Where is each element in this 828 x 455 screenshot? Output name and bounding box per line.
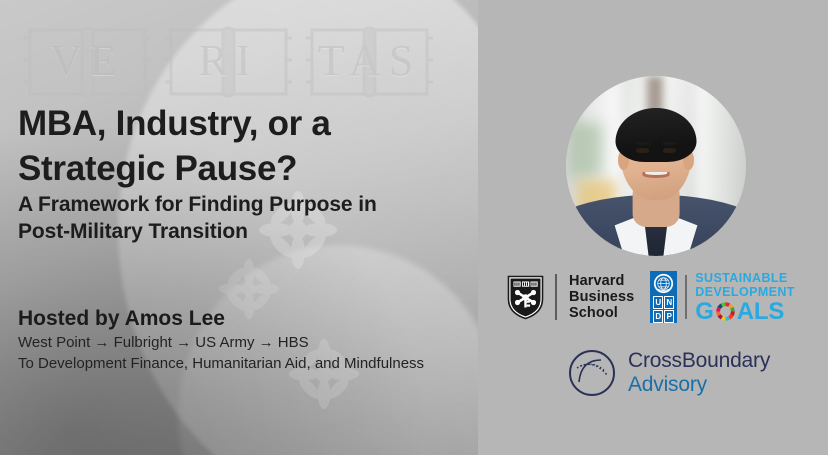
headshot-bg-foliage xyxy=(570,123,602,177)
veritas-book-letters: TAS xyxy=(302,16,437,104)
veritas-crest-watermark: VE RI xyxy=(20,16,450,104)
sdg-color-wheel-icon xyxy=(715,301,736,322)
logo-row-primary: Harvard Business School xyxy=(507,269,795,325)
subhead-line-2: Post-Military Transition xyxy=(18,218,458,245)
host-name: Hosted by Amos Lee xyxy=(18,306,468,332)
headline-line-1: MBA, Industry, or a xyxy=(18,101,448,146)
page-title: MBA, Industry, or a Strategic Pause? xyxy=(18,101,448,191)
sdg-goals-line: G xyxy=(695,299,795,324)
un-emblem-icon xyxy=(653,273,674,294)
host-career-path: West Point → Fulbright → US Army → HBS xyxy=(18,332,468,353)
undp-letter-u: U xyxy=(653,296,663,309)
logo-divider xyxy=(555,274,557,320)
veritas-book-icon: RI xyxy=(161,16,296,104)
harvard-business-school-logo: Harvard Business School xyxy=(507,269,634,325)
undp-letter-p: P xyxy=(664,310,674,323)
headshot-brow-left xyxy=(635,142,649,145)
crossboundary-name: CrossBoundary xyxy=(628,349,770,373)
headshot-eye-right xyxy=(663,148,676,153)
veritas-book-icon: TAS xyxy=(302,16,437,104)
crossboundary-globe-icon xyxy=(567,348,617,398)
undp-letter-d: D xyxy=(653,310,663,323)
hbs-wordmark-line-3: School xyxy=(569,305,634,321)
harvard-shield-icon xyxy=(507,275,544,320)
veritas-book-letters: RI xyxy=(161,16,296,104)
veritas-book-icon: VE xyxy=(20,16,155,104)
crossboundary-advisory-logo: CrossBoundary Advisory xyxy=(567,348,770,398)
headshot-eye-left xyxy=(636,148,649,153)
undp-logo: U N D P xyxy=(650,271,677,323)
hbs-wordmark-line-2: Business xyxy=(569,289,634,305)
event-promo-banner: VE RI xyxy=(0,0,828,455)
headshot-brow-right xyxy=(662,142,676,145)
undp-sdg-logo-group: U N D P SUSTAINABLE DEVELOPMENT G xyxy=(650,271,795,324)
crossboundary-subname: Advisory xyxy=(628,373,770,397)
left-panel: VE RI xyxy=(0,0,478,455)
hbs-wordmark-line-1: Harvard xyxy=(569,273,634,289)
undp-letter-grid: U N D P xyxy=(653,296,674,323)
page-subtitle: A Framework for Finding Purpose in Post-… xyxy=(18,191,458,245)
hbs-wordmark: Harvard Business School xyxy=(569,273,634,321)
crossboundary-wordmark: CrossBoundary Advisory xyxy=(628,349,770,397)
headline-line-2: Strategic Pause? xyxy=(18,146,448,191)
sdg-wordmark: SUSTAINABLE DEVELOPMENT G xyxy=(695,271,795,324)
host-focus-areas: To Development Finance, Humanitarian Aid… xyxy=(18,353,468,374)
sdg-line-1: SUSTAINABLE xyxy=(695,271,795,285)
subhead-line-1: A Framework for Finding Purpose in xyxy=(18,191,458,218)
logo-divider xyxy=(685,275,687,319)
sdg-goals-prefix: G xyxy=(695,299,713,324)
undp-letter-n: N xyxy=(664,296,674,309)
host-block: Hosted by Amos Lee West Point → Fulbrigh… xyxy=(18,306,468,374)
veritas-book-letters: VE xyxy=(20,16,155,104)
sdg-line-2: DEVELOPMENT xyxy=(695,285,795,299)
sdg-goals-suffix: ALS xyxy=(737,299,784,324)
avatar xyxy=(566,76,746,256)
